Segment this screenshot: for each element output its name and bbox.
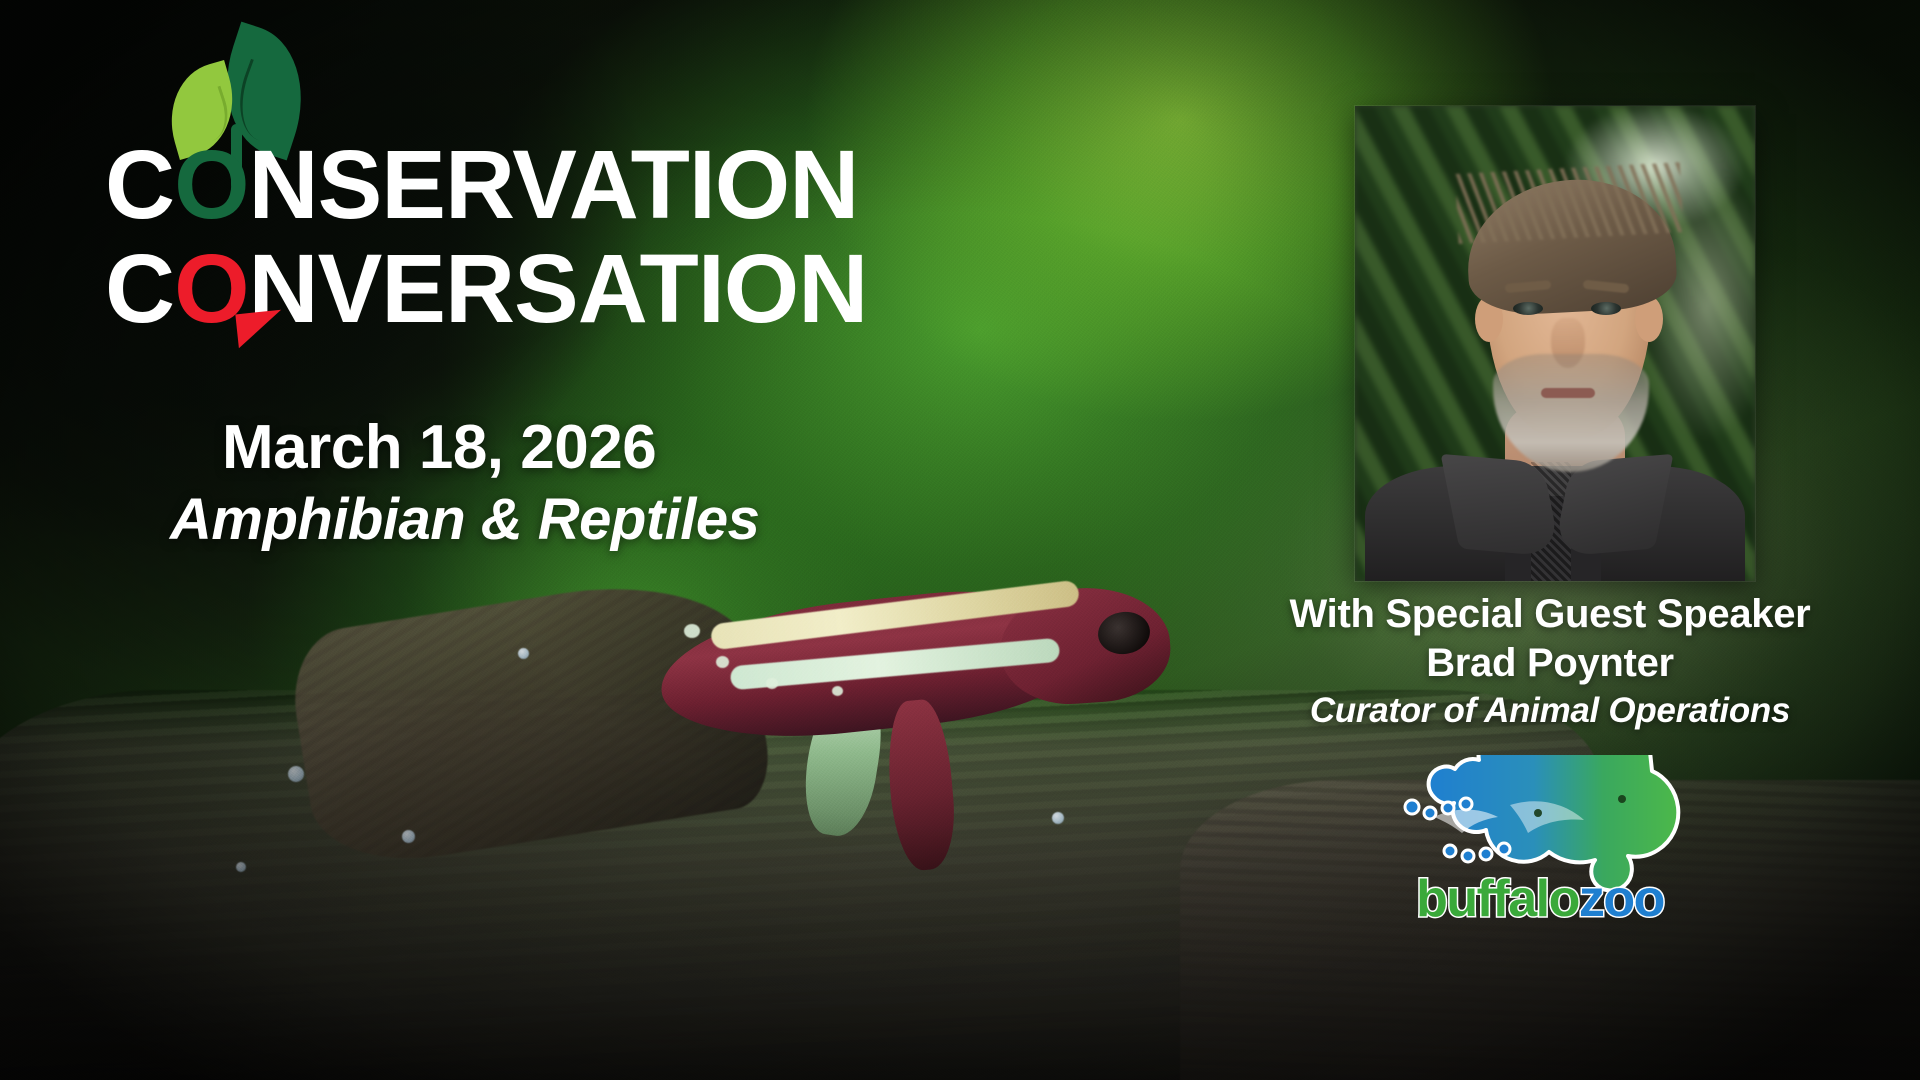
- event-subject: Amphibian & Reptiles: [170, 486, 759, 553]
- speaker-role: Curator of Animal Operations: [1230, 688, 1870, 734]
- speaker-intro: With Special Guest Speaker: [1230, 590, 1870, 638]
- speech-bubble-icon: [235, 310, 284, 349]
- title-line2-post: NVERSATION: [249, 234, 868, 343]
- title-line-conservation: CONSERVATION: [105, 130, 925, 240]
- title-line1-o-seedling: O: [174, 130, 248, 239]
- headshot-eye-right: [1591, 302, 1621, 315]
- title-line2-pre: C: [105, 234, 174, 343]
- conservation-conversation-poster: CONSERVATION CONVERSATION March 18, 2026…: [0, 0, 1920, 1080]
- title-line1-pre: C: [105, 130, 174, 239]
- buffalo-zoo-wordmark: buffalozoo: [1390, 873, 1690, 925]
- speaker-headshot: [1355, 106, 1755, 581]
- buffalo-zoo-logo: buffalozoo: [1390, 755, 1690, 945]
- speaker-info: With Special Guest Speaker Brad Poynter …: [1230, 590, 1870, 734]
- wordmark-buffalo: buffalo: [1416, 870, 1579, 928]
- title-logo-block: CONSERVATION CONVERSATION: [105, 28, 925, 344]
- headshot-mouth: [1541, 388, 1595, 398]
- headshot-hair: [1464, 175, 1679, 318]
- title-line1-post: NSERVATION: [249, 130, 859, 239]
- event-date: March 18, 2026: [222, 412, 656, 483]
- headshot-eye-left: [1513, 302, 1543, 315]
- wordmark-zoo: zoo: [1579, 870, 1664, 928]
- title-line-conversation: CONVERSATION: [105, 234, 925, 344]
- speaker-name: Brad Poynter: [1230, 638, 1870, 688]
